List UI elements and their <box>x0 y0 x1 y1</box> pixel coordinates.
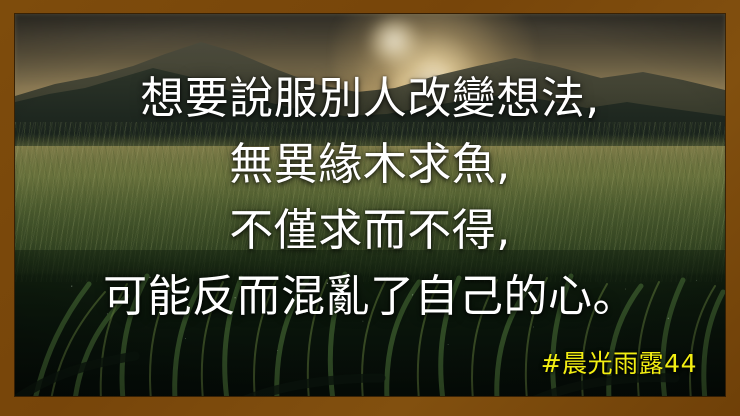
quote-line-1: 想要說服別人改變想法, <box>15 66 725 132</box>
hashtag-label: #晨光雨露44 <box>541 350 697 378</box>
quote-line-4: 可能反而混亂了自己的心。 <box>15 264 725 330</box>
photo-canvas: 想要說服別人改變想法, 無異緣木求魚, 不僅求而不得, 可能反而混亂了自己的心。… <box>15 14 725 396</box>
quote-line-2: 無異緣木求魚, <box>15 132 725 198</box>
poster-frame: 想要說服別人改變想法, 無異緣木求魚, 不僅求而不得, 可能反而混亂了自己的心。… <box>0 0 740 416</box>
quote-block: 想要說服別人改變想法, 無異緣木求魚, 不僅求而不得, 可能反而混亂了自己的心。 <box>15 66 725 330</box>
quote-line-3: 不僅求而不得, <box>15 198 725 264</box>
